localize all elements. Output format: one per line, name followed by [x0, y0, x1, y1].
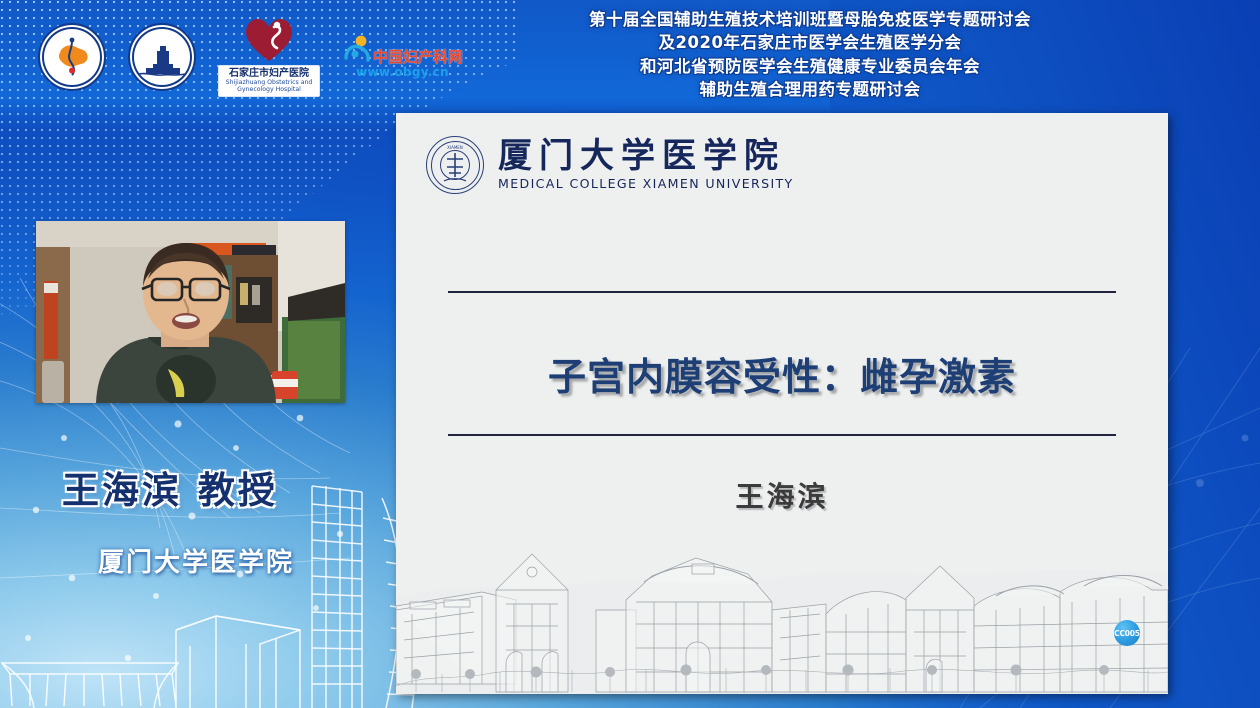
- presenter-name-overlay: 王海滨 教授: [62, 460, 278, 514]
- conference-title-line-4: 辅助生殖合理用药专题研讨会: [430, 78, 1190, 101]
- slide-title: 子宫内膜容受性：雌孕激素: [396, 346, 1168, 401]
- xmu-crest-icon: XIAMEN: [427, 137, 483, 193]
- xiamen-university-seal-icon: XIAMEN: [426, 136, 484, 194]
- slide-institution-name-en: MEDICAL COLLEGE XIAMEN UNIVERSITY: [498, 176, 794, 191]
- presenter-video-frame: [36, 221, 345, 403]
- presenter-affiliation-overlay: 厦门大学医学院: [98, 542, 294, 579]
- broadcast-screen: 石家庄市妇产医院 Shijiazhuang Obstetrics and Gyn…: [0, 0, 1260, 708]
- logo-shijiazhuang-obgyn-hospital: 石家庄市妇产医院 Shijiazhuang Obstetrics and Gyn…: [218, 17, 320, 97]
- svg-text:XIAMEN: XIAMEN: [447, 145, 463, 150]
- mother-child-heart-icon: [244, 17, 294, 63]
- hospital-name-cn: 石家庄市妇产医院: [223, 68, 315, 79]
- slide-rule-top: [448, 291, 1116, 293]
- hospital-name-caption: 石家庄市妇产医院 Shijiazhuang Obstetrics and Gyn…: [218, 65, 320, 97]
- slide-institution-logo: XIAMEN 厦门大学医学院 MEDICAL COLLEGE XIAMEN UN…: [426, 136, 794, 194]
- slide-author: 王海滨: [396, 475, 1168, 515]
- conference-title-line-3: 和河北省预防医学会生殖健康专业委员会年会: [430, 55, 1190, 78]
- hebei-preventive-medicine-association-seal-icon: [128, 23, 196, 91]
- conference-title-banner: 第十届全国辅助生殖技术培训班暨母胎免疫医学专题研讨会 及2020年石家庄市医学会…: [430, 8, 1190, 102]
- conference-title-line-1: 第十届全国辅助生殖技术培训班暨母胎免疫医学专题研讨会: [430, 8, 1190, 31]
- logo-hebei-preventive-medicine-association: [128, 23, 196, 91]
- presentation-slide[interactable]: XIAMEN 厦门大学医学院 MEDICAL COLLEGE XIAMEN UN…: [396, 113, 1168, 694]
- sponsor-logo-strip: 石家庄市妇产医院 Shijiazhuang Obstetrics and Gyn…: [38, 14, 463, 100]
- slide-institution-name-cn: 厦门大学医学院: [498, 139, 794, 174]
- slide-watermark-badge: CC005: [1114, 620, 1140, 646]
- hospital-name-en: Shijiazhuang Obstetrics and Gynecology H…: [223, 79, 315, 93]
- slide-rule-bottom: [448, 434, 1116, 436]
- conference-title-line-2: 及2020年石家庄市医学会生殖医学分会: [430, 31, 1190, 54]
- seal-ring-text: [40, 25, 104, 89]
- campus-sketch-illustration-icon: [396, 514, 1168, 694]
- shijiazhuang-medical-association-seal-icon: [38, 23, 106, 91]
- logo-shijiazhuang-medical-association: [38, 23, 106, 91]
- obgy-parent-child-icon: [342, 34, 372, 64]
- seal-ring-text: [130, 25, 194, 89]
- presenter-video-feed[interactable]: [36, 221, 345, 403]
